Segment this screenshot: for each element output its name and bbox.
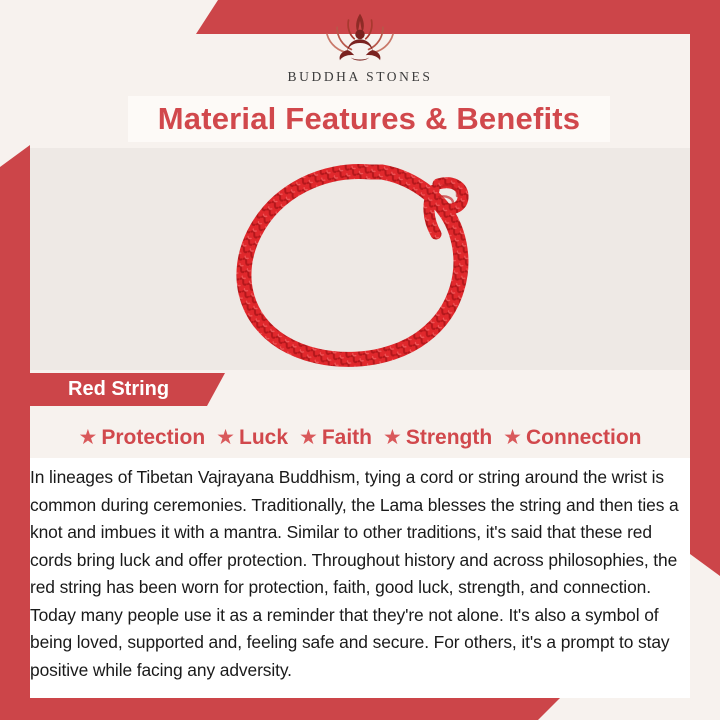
star-icon: ★ bbox=[299, 427, 318, 448]
brand-logo: BUDDHA STONES bbox=[0, 10, 720, 94]
benefit-label: Connection bbox=[526, 427, 642, 448]
benefit-label: Protection bbox=[101, 427, 205, 448]
benefit-label: Luck bbox=[239, 427, 288, 448]
hero-image-area bbox=[30, 148, 690, 370]
product-name-label: Red String bbox=[68, 378, 169, 401]
benefit-keyword-row: ★ Protection ★ Luck ★ Faith ★ Strength ★… bbox=[30, 420, 690, 454]
benefit-tag: ★ Faith bbox=[299, 427, 372, 448]
page-title: Material Features & Benefits bbox=[128, 96, 610, 142]
description-text: In lineages of Tibetan Vajrayana Buddhis… bbox=[30, 464, 680, 684]
page-title-text: Material Features & Benefits bbox=[158, 101, 581, 137]
benefit-tag: ★ Luck bbox=[216, 427, 288, 448]
lotus-meditation-icon bbox=[317, 10, 403, 66]
brand-name: BUDDHA STONES bbox=[288, 69, 433, 85]
star-icon: ★ bbox=[383, 427, 402, 448]
benefit-tag: ★ Protection bbox=[79, 427, 206, 448]
frame-left-bar bbox=[0, 145, 30, 700]
product-name-ribbon: Red String bbox=[20, 373, 225, 406]
benefit-label: Faith bbox=[322, 427, 372, 448]
benefit-label: Strength bbox=[406, 427, 492, 448]
star-icon: ★ bbox=[79, 427, 98, 448]
frame-right-bar bbox=[690, 34, 720, 576]
star-icon: ★ bbox=[216, 427, 235, 448]
frame-bottom-bar bbox=[0, 698, 560, 720]
poster-root: BUDDHA STONES Material Features & Benefi… bbox=[0, 0, 720, 720]
benefit-tag: ★ Strength bbox=[383, 427, 492, 448]
red-braided-string-bracelet-icon bbox=[220, 150, 500, 370]
description-panel: In lineages of Tibetan Vajrayana Buddhis… bbox=[30, 458, 690, 698]
benefit-tag: ★ Connection bbox=[503, 427, 641, 448]
star-icon: ★ bbox=[503, 427, 522, 448]
